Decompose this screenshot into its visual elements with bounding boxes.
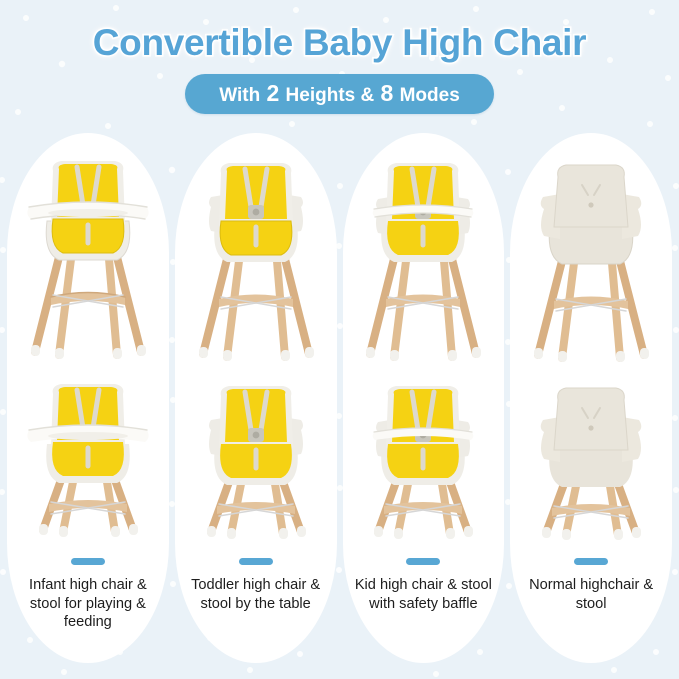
badge-prefix: With: [219, 85, 260, 106]
high-chair-no-tray-icon: [181, 147, 331, 369]
mode-card-toddler[interactable]: Toddler high chair & stool by the table: [175, 133, 337, 663]
divider-bar: [239, 558, 273, 565]
badge-modes-number: 8: [380, 80, 395, 106]
card-caption: Normal highchair & stool: [516, 576, 666, 613]
header: Convertible Baby High Chair With 2 Heigh…: [0, 0, 679, 114]
chair-image-normal-stool: [510, 369, 672, 544]
stool-no-tray-icon: [181, 372, 331, 544]
stool-with-tray-icon: [13, 372, 163, 544]
mode-card-infant[interactable]: Infant high chair & stool for playing & …: [7, 133, 169, 663]
card-caption: Infant high chair & stool for playing & …: [13, 576, 163, 632]
stool-with-baffle-icon: [348, 372, 498, 544]
card-caption: Toddler high chair & stool by the table: [181, 576, 331, 613]
badge-heights-number: 2: [265, 80, 280, 106]
stool-plain-icon: [516, 372, 666, 544]
chair-image-toddler-stool: [175, 369, 337, 544]
divider-bar: [71, 558, 105, 565]
badge-modes-word: Modes: [400, 85, 460, 106]
divider-bar: [406, 558, 440, 565]
divider-bar: [574, 558, 608, 565]
page-title: Convertible Baby High Chair: [0, 0, 679, 64]
badge-ampersand: &: [361, 85, 375, 106]
mode-card-normal[interactable]: Normal highchair & stool: [510, 133, 672, 663]
mode-card-kid[interactable]: Kid high chair & stool with safety baffl…: [343, 133, 505, 663]
chair-image-infant-stool: [7, 369, 169, 544]
badge-heights-word: Heights: [286, 85, 356, 106]
chair-image-infant-high: [7, 133, 169, 369]
high-chair-with-tray-icon: [13, 147, 163, 369]
product-mode-card-grid: Infant high chair & stool for playing & …: [7, 133, 672, 663]
chair-image-kid-stool: [343, 369, 505, 544]
card-caption: Kid high chair & stool with safety baffl…: [348, 576, 498, 613]
subtitle-badge: With 2 Heights & 8 Modes: [185, 74, 494, 114]
chair-image-normal-high: [510, 133, 672, 369]
chair-image-toddler-high: [175, 133, 337, 369]
high-chair-plain-icon: [516, 147, 666, 369]
chair-image-kid-high: [343, 133, 505, 369]
high-chair-with-baffle-icon: [348, 147, 498, 369]
